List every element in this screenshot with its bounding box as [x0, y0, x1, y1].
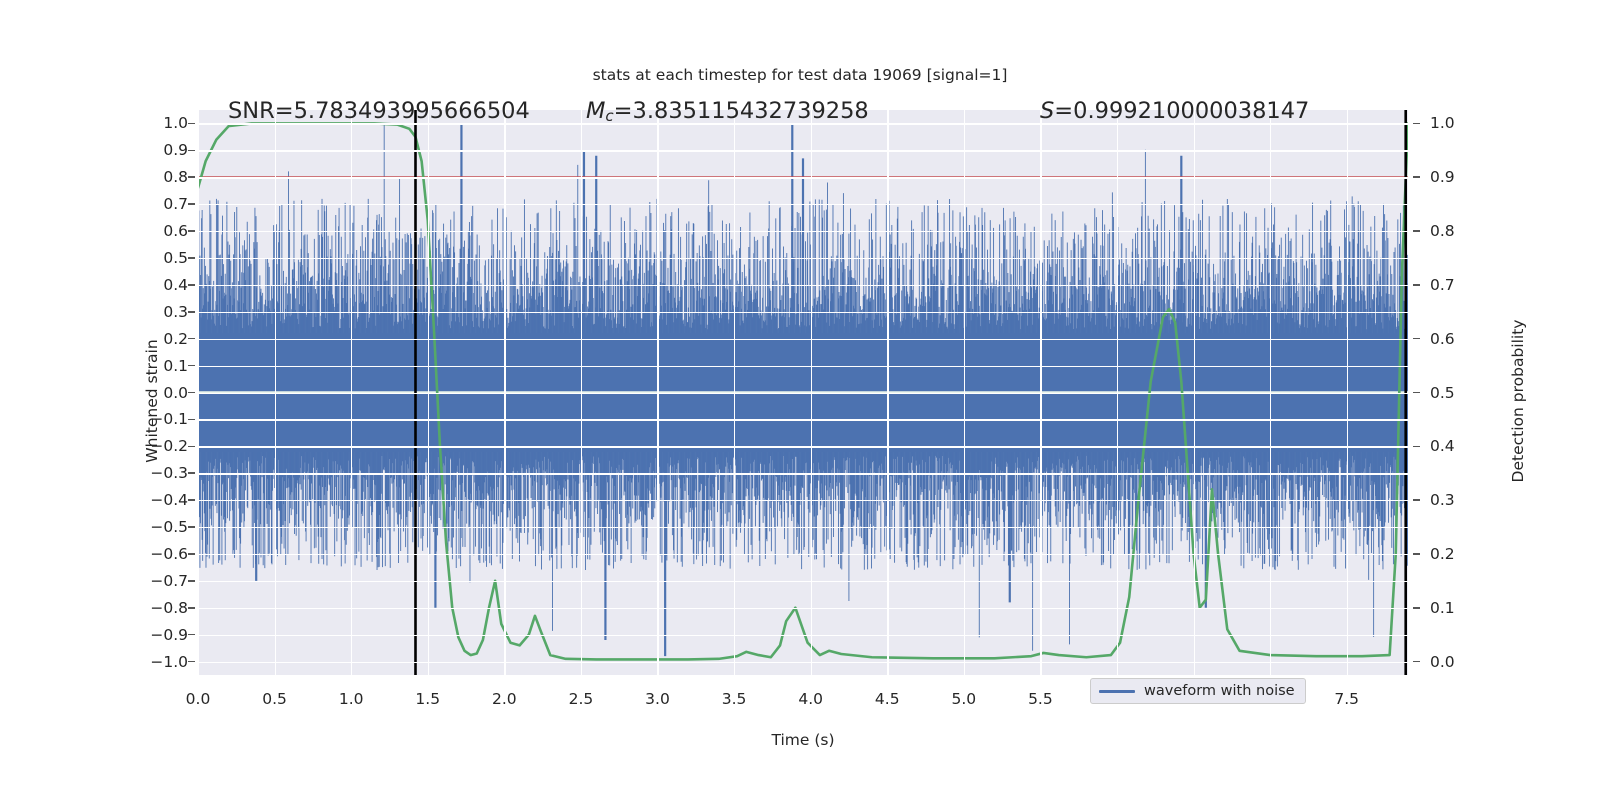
gridline-horizontal — [198, 581, 1408, 582]
x-tick-label: 0.0 — [186, 690, 211, 708]
gridline-horizontal — [198, 608, 1408, 609]
x-tick-label: 2.0 — [492, 690, 517, 708]
y-tick-label-left: 0.4 — [48, 276, 188, 294]
y-tick-label-right: 0.6 — [1430, 330, 1550, 348]
y-tick-label-left: 0.5 — [48, 249, 188, 267]
x-tick-label: 5.0 — [951, 690, 976, 708]
annotation-score: S=0.999210000038147 — [1040, 98, 1309, 124]
y-tick-mark-left — [188, 257, 195, 259]
x-tick-label: 1.5 — [415, 690, 440, 708]
y-tick-mark-right — [1413, 553, 1420, 555]
gridline-horizontal — [198, 473, 1408, 474]
y-tick-mark-right — [1413, 338, 1420, 340]
gridline-vertical — [964, 110, 965, 675]
y-tick-mark-left — [188, 311, 195, 313]
x-tick-label: 7.5 — [1334, 690, 1359, 708]
gridline-vertical — [1194, 110, 1195, 675]
y-tick-label-left: −0.3 — [48, 464, 188, 482]
gridline-vertical — [1347, 110, 1348, 675]
y-tick-mark-left — [188, 150, 195, 152]
y-tick-label-right: 1.0 — [1430, 114, 1550, 132]
gridline-vertical — [581, 110, 582, 675]
y-tick-label-right: 0.2 — [1430, 545, 1550, 563]
gridline-horizontal — [198, 150, 1408, 151]
gridline-horizontal — [198, 204, 1408, 205]
gridline-horizontal — [198, 285, 1408, 286]
y-tick-mark-left — [188, 203, 195, 205]
y-tick-mark-left — [188, 123, 195, 125]
y-tick-mark-left — [188, 446, 195, 448]
y-tick-label-right: 0.3 — [1430, 491, 1550, 509]
y-tick-mark-left — [188, 176, 195, 178]
y-tick-mark-right — [1413, 446, 1420, 448]
gridline-horizontal — [198, 446, 1408, 447]
legend: waveform with noise — [1090, 678, 1306, 704]
annotation-s-label: S — [1040, 98, 1054, 124]
annotation-mc-label: M — [586, 98, 605, 124]
y-tick-label-left: −0.8 — [48, 599, 188, 617]
annotation-mc-value: 3.835115432739258 — [633, 98, 869, 124]
gridline-vertical — [1117, 110, 1118, 675]
y-tick-mark-left — [188, 607, 195, 609]
annotation-s-equals: = — [1054, 98, 1073, 124]
annotation-snr-value: 5.783493995666504 — [294, 98, 530, 124]
y-tick-label-left: 1.0 — [48, 114, 188, 132]
gridline-horizontal — [198, 231, 1408, 232]
gridline-horizontal — [198, 258, 1408, 259]
gridline-horizontal — [198, 527, 1408, 528]
x-tick-label: 4.5 — [875, 690, 900, 708]
y-tick-label-left: −0.5 — [48, 518, 188, 536]
y-tick-mark-right — [1413, 661, 1420, 663]
y-tick-mark-left — [188, 392, 195, 394]
x-tick-label: 3.0 — [645, 690, 670, 708]
gridline-horizontal — [198, 419, 1408, 420]
y-tick-mark-right — [1413, 176, 1420, 178]
y-tick-label-right: 0.1 — [1430, 599, 1550, 617]
y-tick-mark-right — [1413, 123, 1420, 125]
y-tick-mark-left — [188, 284, 195, 286]
y-tick-label-left: 0.9 — [48, 141, 188, 159]
gridline-vertical — [657, 110, 658, 675]
x-tick-label: 4.0 — [798, 690, 823, 708]
annotation-chirp-mass: Mc=3.835115432739258 — [586, 98, 869, 125]
figure-canvas: stats at each timestep for test data 190… — [0, 0, 1600, 800]
y-tick-mark-left — [188, 580, 195, 582]
y-tick-label-left: −0.6 — [48, 545, 188, 563]
gridline-vertical — [811, 110, 812, 675]
y-tick-label-right: 0.8 — [1430, 222, 1550, 240]
y-tick-label-left: −0.9 — [48, 626, 188, 644]
y-tick-label-left: −1.0 — [48, 653, 188, 671]
y-tick-mark-right — [1413, 607, 1420, 609]
y-tick-label-right: 0.4 — [1430, 437, 1550, 455]
gridline-horizontal — [198, 312, 1408, 313]
annotation-s-value: 0.999210000038147 — [1073, 98, 1309, 124]
y-tick-mark-left — [188, 472, 195, 474]
legend-swatch-waveform — [1099, 690, 1135, 693]
y-tick-mark-left — [188, 499, 195, 501]
gridline-vertical — [1270, 110, 1271, 675]
y-tick-mark-right — [1413, 284, 1420, 286]
y-tick-label-right: 0.7 — [1430, 276, 1550, 294]
chart-title: stats at each timestep for test data 190… — [0, 66, 1600, 84]
gridline-vertical — [351, 110, 352, 675]
y-tick-label-left: 0.1 — [48, 357, 188, 375]
y-tick-mark-left — [188, 553, 195, 555]
y-tick-mark-left — [188, 230, 195, 232]
y-tick-mark-right — [1413, 499, 1420, 501]
gridline-vertical — [275, 110, 276, 675]
y-tick-label-left: −0.7 — [48, 572, 188, 590]
x-tick-label: 3.5 — [722, 690, 747, 708]
gridline-horizontal — [198, 177, 1408, 178]
gridline-horizontal — [198, 500, 1408, 501]
plot-area: SNR=5.783493995666504 Mc=3.8351154327392… — [198, 110, 1408, 675]
y-tick-label-left: 0.0 — [48, 384, 188, 402]
gridline-vertical — [887, 110, 888, 675]
annotation-snr-label: SNR= — [228, 98, 294, 124]
y-tick-mark-left — [188, 526, 195, 528]
x-tick-label: 0.5 — [262, 690, 287, 708]
y-tick-mark-left — [188, 365, 195, 367]
y-tick-mark-right — [1413, 392, 1420, 394]
y-tick-mark-left — [188, 338, 195, 340]
annotation-snr: SNR=5.783493995666504 — [228, 98, 530, 124]
gridline-horizontal — [198, 366, 1408, 367]
y-tick-label-left: 0.3 — [48, 303, 188, 321]
x-tick-label: 2.5 — [569, 690, 594, 708]
gridline-vertical — [1040, 110, 1041, 675]
gridline-horizontal — [198, 635, 1408, 636]
y-tick-label-right: 0.0 — [1430, 653, 1550, 671]
gridline-vertical — [504, 110, 505, 675]
y-tick-mark-left — [188, 661, 195, 663]
gridline-vertical — [198, 110, 199, 675]
y-tick-label-left: 0.7 — [48, 195, 188, 213]
y-tick-label-right: 0.9 — [1430, 168, 1550, 186]
y-tick-mark-left — [188, 634, 195, 636]
y-tick-label-left: 0.6 — [48, 222, 188, 240]
y-tick-label-left: 0.2 — [48, 330, 188, 348]
x-axis-label: Time (s) — [198, 731, 1408, 749]
x-tick-label: 5.5 — [1028, 690, 1053, 708]
y-tick-mark-right — [1413, 230, 1420, 232]
x-tick-label: 1.0 — [339, 690, 364, 708]
y-tick-label-right: 0.5 — [1430, 384, 1550, 402]
gridline-horizontal — [198, 554, 1408, 555]
y-tick-label-left: 0.8 — [48, 168, 188, 186]
gridline-horizontal — [198, 662, 1408, 663]
y-tick-label-left: −0.2 — [48, 437, 188, 455]
y-tick-mark-left — [188, 419, 195, 421]
annotation-mc-subscript: c — [605, 107, 613, 125]
y-tick-label-left: −0.1 — [48, 410, 188, 428]
gridline-horizontal — [198, 339, 1408, 340]
legend-label-waveform: waveform with noise — [1144, 683, 1295, 699]
gridline-vertical — [734, 110, 735, 675]
gridline-vertical — [428, 110, 429, 675]
gridline-horizontal — [198, 393, 1408, 394]
annotation-mc-equals: = — [614, 98, 633, 124]
y-tick-label-left: −0.4 — [48, 491, 188, 509]
